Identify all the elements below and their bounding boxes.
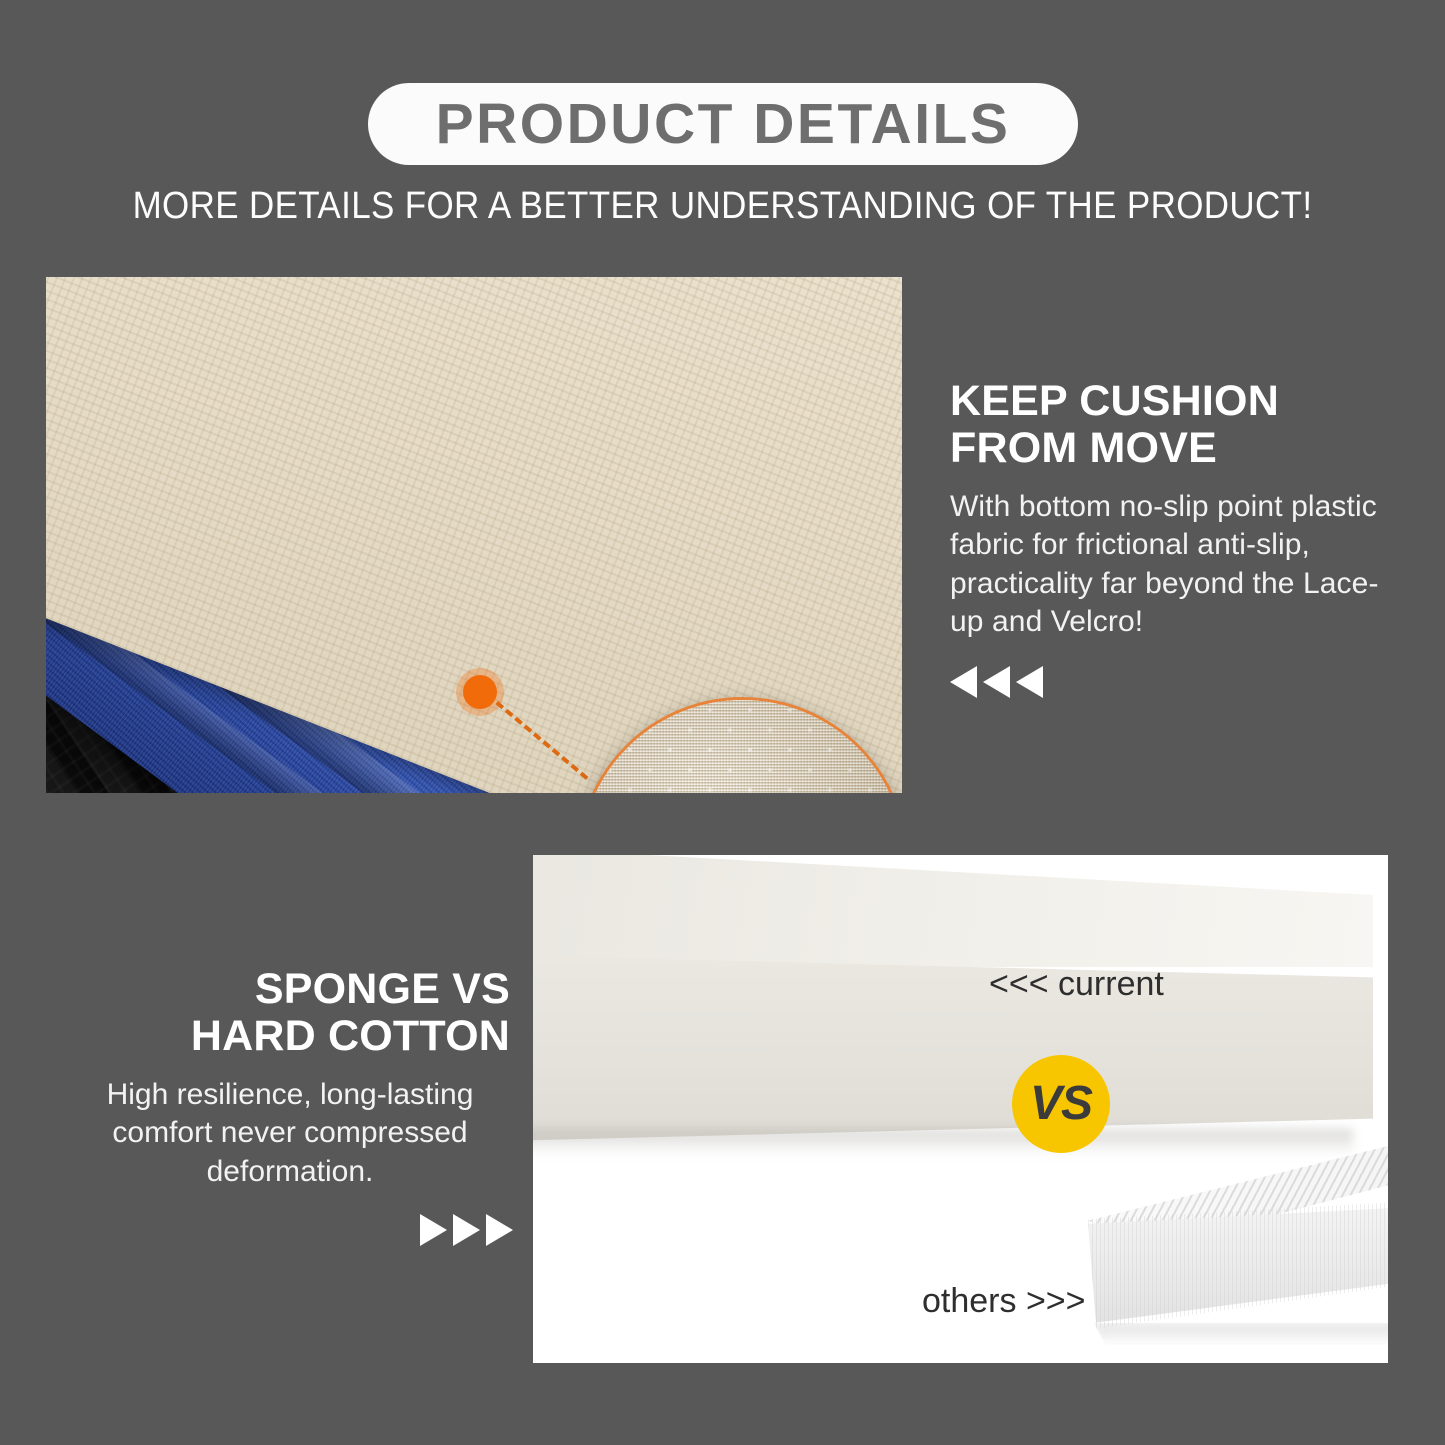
label-others: others >>>: [922, 1282, 1086, 1321]
poster-canvas: PRODUCT DETAILS MORE DETAILS FOR A BETTE…: [0, 0, 1445, 1445]
left-arrows-group: [950, 666, 1043, 698]
foam-comparison-photo: <<< current others >>> VS: [533, 855, 1388, 1363]
sponge-vs-heading-line1: SPONGE VS: [70, 966, 510, 1013]
vs-badge: VS: [1012, 1055, 1110, 1153]
sponge-vs-body: High resilience, long-lasting comfort ne…: [70, 1076, 510, 1191]
triangle-right-icon: [486, 1214, 513, 1246]
magnifier-shading: [580, 700, 902, 793]
keep-cushion-heading-line2: FROM MOVE: [950, 425, 1382, 472]
sponge-top-face: [533, 855, 1373, 967]
sponge-front-face: [533, 955, 1373, 1141]
sponge-shadow: [533, 1129, 1353, 1155]
magnifier-circle: [577, 697, 902, 793]
sponge-vs-heading-line2: HARD COTTON: [70, 1013, 510, 1060]
triangle-left-icon: [983, 666, 1010, 698]
triangle-left-icon: [950, 666, 977, 698]
page-subtitle: MORE DETAILS FOR A BETTER UNDERSTANDING …: [58, 185, 1387, 228]
triangle-left-icon: [1016, 666, 1043, 698]
page-title-pill: PRODUCT DETAILS: [368, 83, 1078, 165]
triangle-right-icon: [453, 1214, 480, 1246]
right-arrows-group: [420, 1214, 513, 1246]
hard-cotton-fiber-texture: [1088, 1197, 1388, 1337]
label-current: <<< current: [989, 965, 1164, 1004]
cushion-photo: [46, 277, 902, 793]
sponge-vs-text-block: SPONGE VS HARD COTTON High resilience, l…: [70, 966, 510, 1191]
hard-cotton-shadow: [1094, 1323, 1388, 1345]
keep-cushion-heading: KEEP CUSHION FROM MOVE: [950, 378, 1382, 472]
keep-cushion-body: With bottom no-slip point plastic fabric…: [950, 488, 1382, 642]
keep-cushion-heading-line1: KEEP CUSHION: [950, 378, 1382, 425]
callout-dot-icon: [463, 675, 497, 709]
sponge-vs-heading: SPONGE VS HARD COTTON: [70, 966, 510, 1060]
vs-label: VS: [1030, 1080, 1092, 1128]
page-title: PRODUCT DETAILS: [436, 96, 1011, 153]
keep-cushion-text-block: KEEP CUSHION FROM MOVE With bottom no-sl…: [950, 378, 1382, 641]
triangle-right-icon: [420, 1214, 447, 1246]
